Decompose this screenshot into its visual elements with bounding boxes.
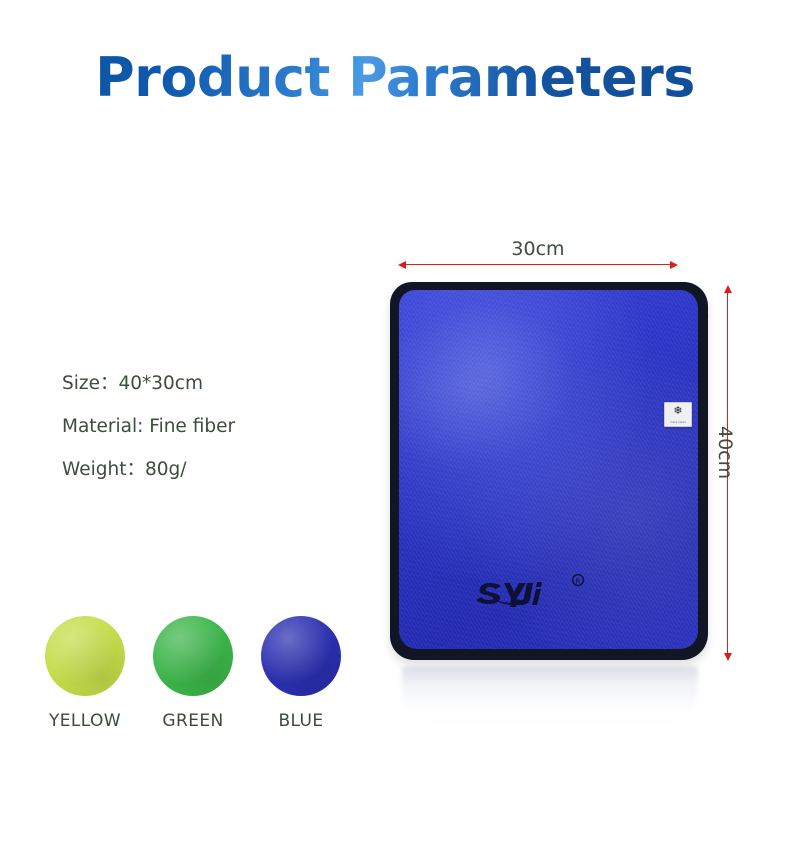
- width-dimension-label: 30cm: [398, 238, 678, 260]
- spec-line-weight: Weight：80g/: [62, 448, 382, 491]
- product-parameters-page: Product Parameters Size：40*30cm Material…: [0, 0, 790, 846]
- spec-line-size: Size：40*30cm: [62, 362, 382, 405]
- svg-text:R: R: [576, 577, 581, 585]
- page-title: Product Parameters: [0, 46, 790, 109]
- color-option-yellow[interactable]: YELLOW: [45, 616, 125, 731]
- width-dimension-arrow: [398, 264, 678, 266]
- product-photo: ❄ Care label R: [380, 230, 790, 750]
- color-label-yellow: YELLOW: [45, 711, 125, 731]
- arrow-right-icon: [670, 261, 678, 269]
- color-label-green: GREEN: [153, 711, 233, 731]
- towel-image: ❄ Care label R: [390, 282, 708, 660]
- towel-reflection: [402, 667, 698, 729]
- brand-logo: R: [474, 570, 594, 610]
- care-label-tag: ❄ Care label: [664, 402, 692, 427]
- color-option-green[interactable]: GREEN: [153, 616, 233, 731]
- arrow-down-icon: [724, 653, 732, 661]
- dimension-line-horizontal: [404, 264, 672, 265]
- height-dimension-label: 40cm: [714, 426, 736, 479]
- color-swatch-group: YELLOW GREEN BLUE: [45, 616, 375, 746]
- color-option-blue[interactable]: BLUE: [261, 616, 341, 731]
- color-dot-yellow[interactable]: [45, 616, 125, 696]
- care-label-text: Care label: [666, 420, 691, 424]
- spec-line-material: Material: Fine fiber: [62, 405, 382, 448]
- color-dot-green[interactable]: [153, 616, 233, 696]
- color-label-blue: BLUE: [261, 711, 341, 731]
- snowflake-icon: ❄: [665, 406, 691, 417]
- product-spec-list: Size：40*30cm Material: Fine fiber Weight…: [62, 362, 382, 491]
- color-dot-blue[interactable]: [261, 616, 341, 696]
